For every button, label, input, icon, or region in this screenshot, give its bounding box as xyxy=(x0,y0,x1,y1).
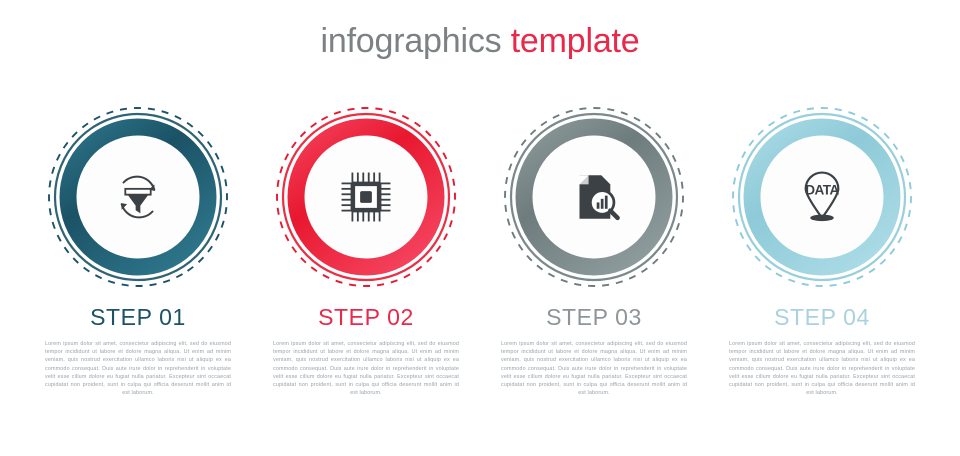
step-badge-3[interactable] xyxy=(501,104,687,290)
badge-inner-face-3 xyxy=(533,136,655,258)
step-card-4[interactable]: DATA STEP 04 Lorem ipsum dolor sit amet,… xyxy=(718,104,926,434)
step-card-2[interactable]: STEP 02 Lorem ipsum dolor sit amet, cons… xyxy=(262,104,470,434)
step-card-1[interactable]: STEP 01 Lorem ipsum dolor sit amet, cons… xyxy=(34,104,242,434)
title-primary-word: infographics xyxy=(321,22,511,60)
badge-inner-face-2 xyxy=(305,136,427,258)
step-badge-4[interactable]: DATA xyxy=(729,104,915,290)
step-body-4: Lorem ipsum dolor sit amet, consectetur … xyxy=(729,340,915,397)
step-label-1: STEP 01 xyxy=(90,304,186,331)
step-label-2: STEP 02 xyxy=(318,304,414,331)
step-body-2: Lorem ipsum dolor sit amet, consectetur … xyxy=(273,340,459,397)
step-body-1: Lorem ipsum dolor sit amet, consectetur … xyxy=(45,340,231,397)
title-accent-word: template xyxy=(511,22,640,60)
page-title: infographics template xyxy=(0,22,960,61)
step-label-3: STEP 03 xyxy=(546,304,642,331)
step-body-3: Lorem ipsum dolor sit amet, consectetur … xyxy=(501,340,687,397)
badge-inner-face-4 xyxy=(761,136,883,258)
step-label-4: STEP 04 xyxy=(774,304,870,331)
step-card-3[interactable]: STEP 03 Lorem ipsum dolor sit amet, cons… xyxy=(490,104,698,434)
step-badge-1[interactable] xyxy=(45,104,231,290)
step-badge-2[interactable] xyxy=(273,104,459,290)
steps-row: STEP 01 Lorem ipsum dolor sit amet, cons… xyxy=(0,104,960,434)
badge-inner-face-1 xyxy=(77,136,199,258)
